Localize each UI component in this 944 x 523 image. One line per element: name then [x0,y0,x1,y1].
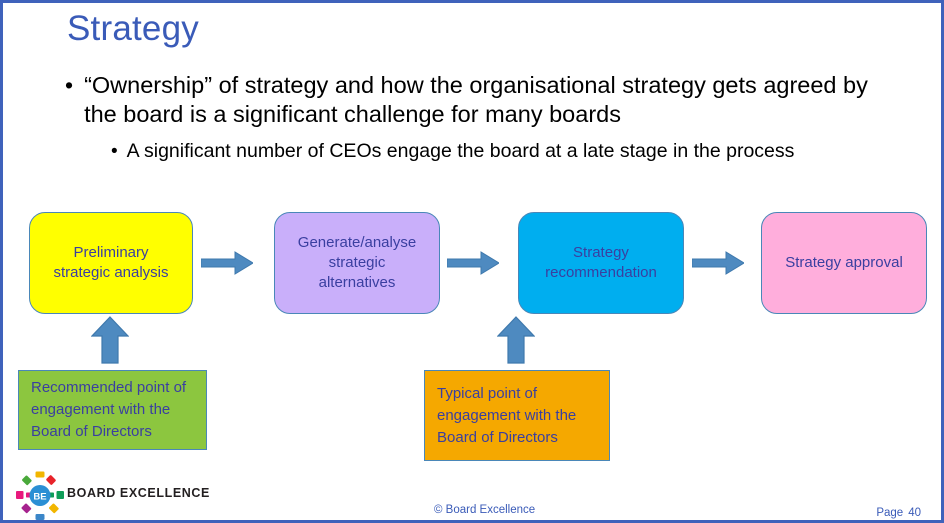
bullet-level-1: • “Ownership” of strategy and how the or… [65,71,875,129]
flow-box-strategy-recommendation[interactable]: Strategy recommendation [518,212,684,314]
arrow-up-icon-recommended-note [91,316,129,364]
board-excellence-logo-icon: BE [15,471,65,521]
slide: Strategy • “Ownership” of strategy and h… [0,0,944,523]
copyright-text: © Board Excellence [434,504,535,516]
flow-box-generate-analyse-strategic-alternatives[interactable]: Generate/analyse strategic alternatives [274,212,440,314]
logo-wordmark: BOARD EXCELLENCE [67,486,210,500]
page-number-value: 40 [908,507,921,519]
page-number: Page40 [876,507,921,519]
bullet-marker-icon: • [65,71,73,129]
note-box-typical-engagement-point[interactable]: Typical point of engagement with the Boa… [424,370,610,461]
arrow-right-icon-preliminary-to-generate [201,250,253,276]
flow-box-label: Strategy recommendation [545,243,657,283]
arrow-right-icon-recommendation-to-approval [692,250,744,276]
flow-box-strategy-approval[interactable]: Strategy approval [761,212,927,314]
bullet-level-2-text: A significant number of CEOs engage the … [127,139,795,164]
note-box-label: Recommended point of engagement with the… [31,377,194,443]
arrow-up-icon-typical-note [497,316,535,364]
page-number-label: Page [876,507,903,519]
sub-bullet-marker-icon: • [111,139,118,164]
bullet-level-1-text: “Ownership” of strategy and how the orga… [84,71,875,129]
note-box-label: Typical point of engagement with the Boa… [437,383,597,449]
flow-box-preliminary-strategic-analysis[interactable]: Preliminary strategic analysis [29,212,193,314]
note-box-recommended-engagement-point[interactable]: Recommended point of engagement with the… [18,370,207,450]
flow-box-label: Generate/analyse strategic alternatives [298,233,416,293]
flow-box-label: Strategy approval [785,253,903,273]
page-title: Strategy [67,9,199,49]
flow-box-label: Preliminary strategic analysis [53,243,168,283]
bullet-level-2: • A significant number of CEOs engage th… [111,139,901,164]
svg-text:BE: BE [33,491,46,502]
arrow-right-icon-generate-to-recommendation [447,250,499,276]
